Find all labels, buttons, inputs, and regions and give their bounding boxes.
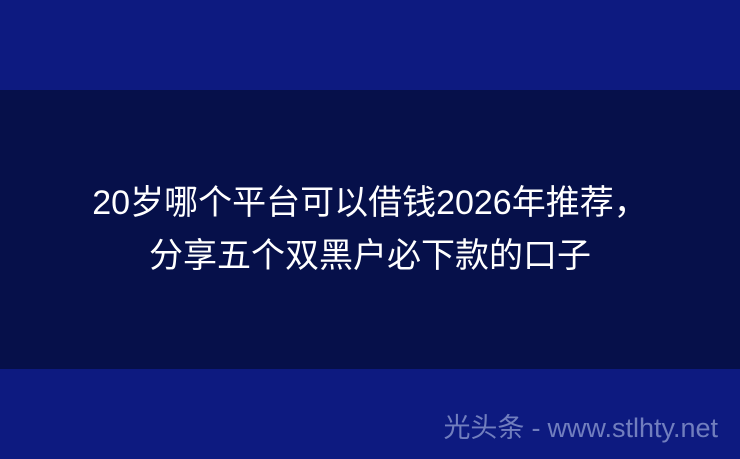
- headline-line-2: 分享五个双黑户必下款的口子: [149, 230, 591, 283]
- headline-line-1: 20岁哪个平台可以借钱2026年推荐，: [92, 177, 647, 230]
- watermark-url-label: www.stlhty.net: [547, 411, 718, 445]
- headline-block: 20岁哪个平台可以借钱2026年推荐， 分享五个双黑户必下款的口子: [0, 90, 740, 369]
- poster-image: 20岁哪个平台可以借钱2026年推荐， 分享五个双黑户必下款的口子 光头条 - …: [0, 0, 740, 459]
- top-color-band: [0, 0, 740, 90]
- watermark-separator: -: [524, 411, 547, 445]
- watermark: 光头条 - www.stlhty.net: [443, 411, 718, 445]
- watermark-brand-label: 光头条: [443, 411, 524, 445]
